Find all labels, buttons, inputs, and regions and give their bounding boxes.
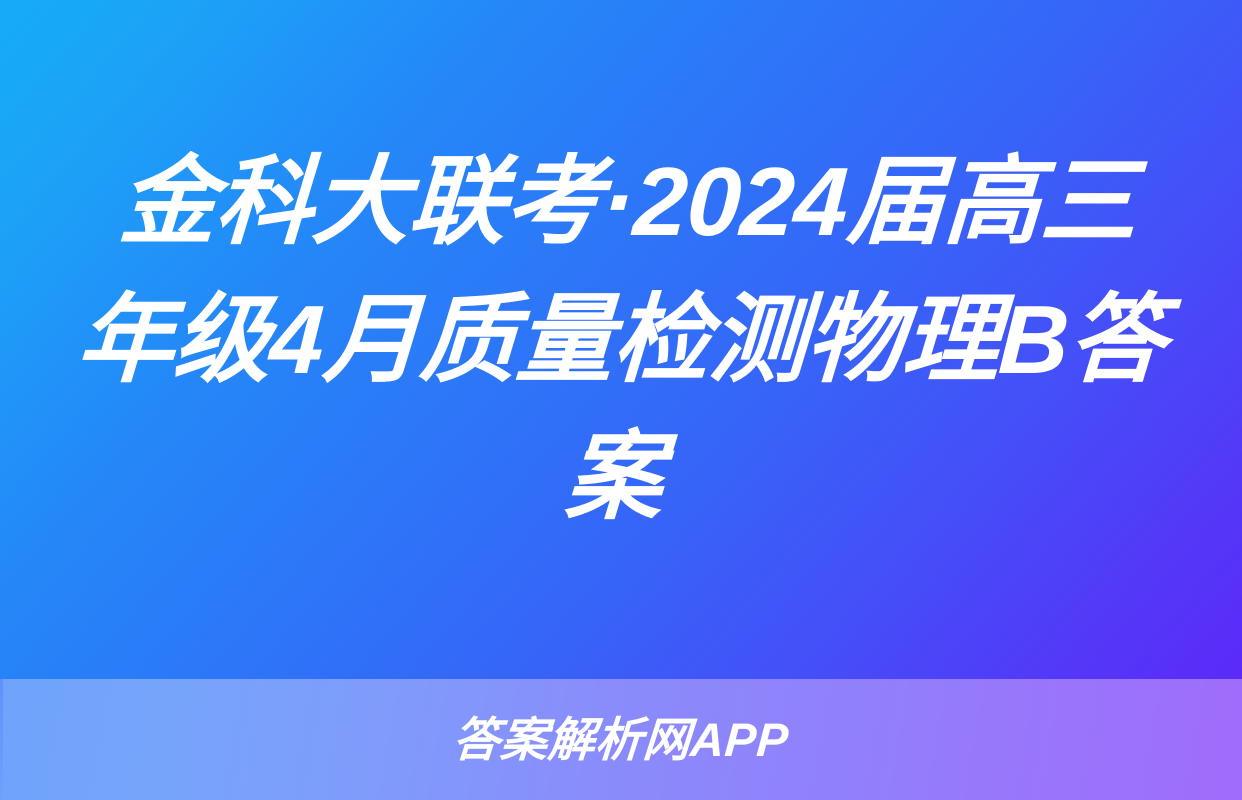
poster-canvas: 金科大联考·2024届高三年级4月质量检测物理B答案 答案解析网APP — [0, 0, 1242, 800]
app-promo-banner[interactable]: 答案解析网APP — [0, 679, 1242, 800]
banner-label: 答案解析网APP — [452, 716, 791, 763]
banner-left-edge-strip — [0, 679, 3, 800]
title-block: 金科大联考·2024届高三年级4月质量检测物理B答案 — [0, 0, 1242, 679]
page-title: 金科大联考·2024届高三年级4月质量检测物理B答案 — [61, 133, 1181, 546]
